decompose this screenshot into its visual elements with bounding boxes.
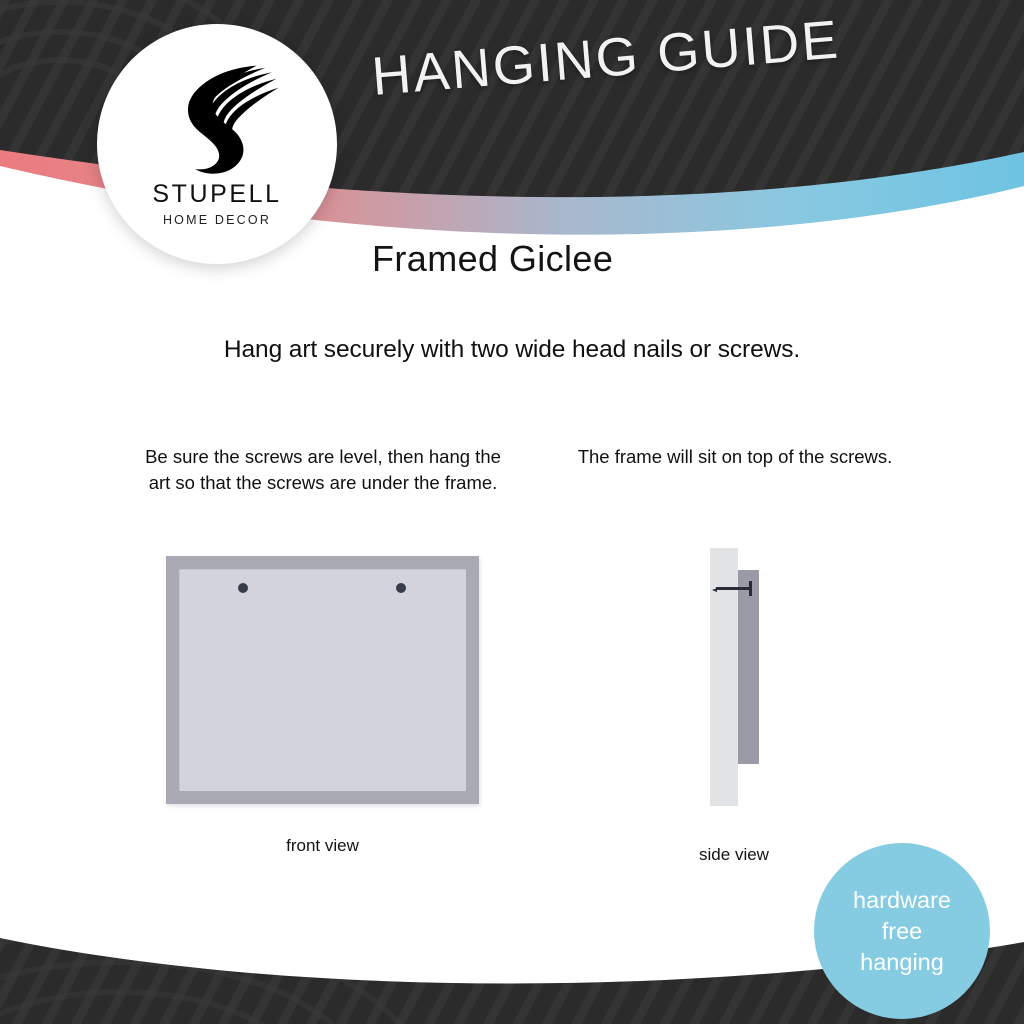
screw-head-icon bbox=[749, 581, 752, 596]
screw-shaft-icon bbox=[716, 587, 751, 590]
screw-dot-left bbox=[238, 583, 248, 593]
side-view-caption: side view bbox=[634, 845, 834, 865]
page-title: HANGING GUIDE bbox=[370, 4, 893, 108]
side-view-column: The frame will sit on top of the screws. bbox=[560, 444, 910, 470]
front-view-mat bbox=[179, 569, 466, 791]
logo-brand-name: STUPELL bbox=[152, 182, 281, 207]
product-type-label: Framed Giclee bbox=[372, 238, 613, 280]
badge-line-3: hanging bbox=[860, 947, 944, 978]
front-view-frame-graphic bbox=[166, 556, 479, 804]
badge-line-1: hardware bbox=[853, 885, 951, 916]
brand-logo-badge: STUPELL HOME DECOR bbox=[97, 24, 337, 264]
side-view-instruction: The frame will sit on top of the screws. bbox=[560, 444, 910, 470]
front-view-column: Be sure the screws are level, then hang … bbox=[132, 444, 514, 496]
front-view-instruction: Be sure the screws are level, then hang … bbox=[132, 444, 514, 496]
stupell-swoosh-icon bbox=[151, 48, 283, 180]
main-instruction-text: Hang art securely with two wide head nai… bbox=[0, 336, 1024, 364]
badge-line-2: free bbox=[882, 916, 923, 947]
hardware-free-hanging-badge: hardware free hanging bbox=[814, 843, 990, 1019]
hanging-guide-page: STUPELL HOME DECOR HANGING GUIDE Framed … bbox=[0, 0, 1024, 1024]
logo-brand-subtitle: HOME DECOR bbox=[163, 214, 271, 227]
screw-dot-right bbox=[396, 583, 406, 593]
front-view-caption: front view bbox=[166, 836, 479, 856]
side-view-frame-graphic bbox=[738, 570, 759, 764]
